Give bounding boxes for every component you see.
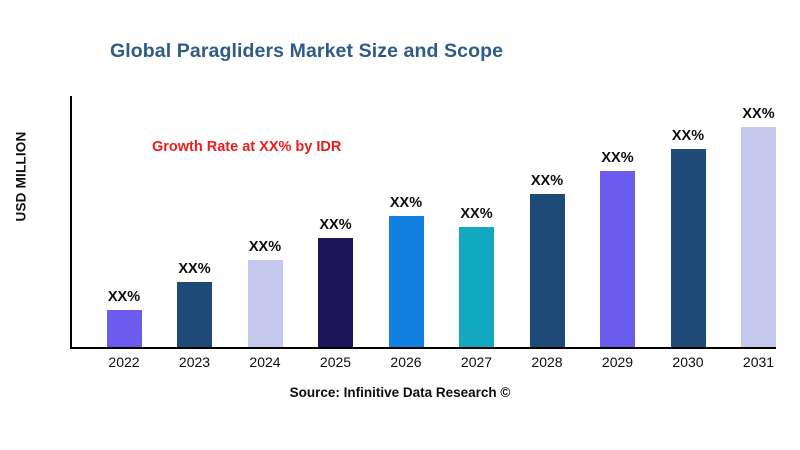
bar-rect-2023[interactable] bbox=[177, 282, 212, 347]
chart-figure: Global Paragliders Market Size and Scope… bbox=[0, 0, 800, 450]
bar-value-label-2025: XX% bbox=[319, 217, 351, 233]
bar-2027[interactable]: XX% bbox=[459, 227, 494, 347]
x-tick-2028: 2028 bbox=[531, 354, 562, 370]
bar-rect-2024[interactable] bbox=[248, 260, 283, 347]
x-tick-2026: 2026 bbox=[390, 354, 421, 370]
x-axis-line bbox=[70, 347, 776, 349]
bar-2026[interactable]: XX% bbox=[389, 216, 424, 347]
bar-2028[interactable]: XX% bbox=[530, 194, 565, 347]
plot-area: Growth Rate at XX% by IDR XX%XX%XX%XX%XX… bbox=[70, 96, 780, 349]
x-tick-2030: 2030 bbox=[672, 354, 703, 370]
bar-value-label-2023: XX% bbox=[178, 261, 210, 277]
x-tick-2029: 2029 bbox=[602, 354, 633, 370]
x-tick-2022: 2022 bbox=[108, 354, 139, 370]
bar-rect-2025[interactable] bbox=[318, 238, 353, 347]
bar-2025[interactable]: XX% bbox=[318, 238, 353, 347]
bar-rect-2028[interactable] bbox=[530, 194, 565, 347]
bar-rect-2027[interactable] bbox=[459, 227, 494, 347]
x-tick-2024: 2024 bbox=[249, 354, 280, 370]
x-tick-2027: 2027 bbox=[461, 354, 492, 370]
bar-value-label-2029: XX% bbox=[601, 150, 633, 166]
bar-rect-2022[interactable] bbox=[107, 310, 142, 347]
bar-rect-2029[interactable] bbox=[600, 171, 635, 347]
growth-rate-annotation: Growth Rate at XX% by IDR bbox=[152, 139, 341, 155]
bar-value-label-2024: XX% bbox=[249, 239, 281, 255]
bar-2022[interactable]: XX% bbox=[107, 310, 142, 347]
x-tick-2023: 2023 bbox=[179, 354, 210, 370]
x-tick-2025: 2025 bbox=[320, 354, 351, 370]
bar-value-label-2027: XX% bbox=[460, 206, 492, 222]
y-axis-label: USD MILLION bbox=[14, 92, 29, 262]
bar-value-label-2026: XX% bbox=[390, 195, 422, 211]
bar-rect-2031[interactable] bbox=[741, 127, 776, 347]
bar-2024[interactable]: XX% bbox=[248, 260, 283, 347]
bar-value-label-2030: XX% bbox=[672, 128, 704, 144]
bar-value-label-2028: XX% bbox=[531, 173, 563, 189]
bar-2031[interactable]: XX% bbox=[741, 127, 776, 347]
bar-2029[interactable]: XX% bbox=[600, 171, 635, 347]
bar-2023[interactable]: XX% bbox=[177, 282, 212, 347]
source-caption: Source: Infinitive Data Research © bbox=[0, 385, 800, 400]
bar-value-label-2031: XX% bbox=[742, 106, 774, 122]
bar-rect-2026[interactable] bbox=[389, 216, 424, 347]
x-tick-2031: 2031 bbox=[743, 354, 774, 370]
chart-title: Global Paragliders Market Size and Scope bbox=[110, 40, 503, 63]
bar-rect-2030[interactable] bbox=[671, 149, 706, 347]
bar-value-label-2022: XX% bbox=[108, 289, 140, 305]
bar-2030[interactable]: XX% bbox=[671, 149, 706, 347]
y-axis-line bbox=[70, 96, 72, 349]
